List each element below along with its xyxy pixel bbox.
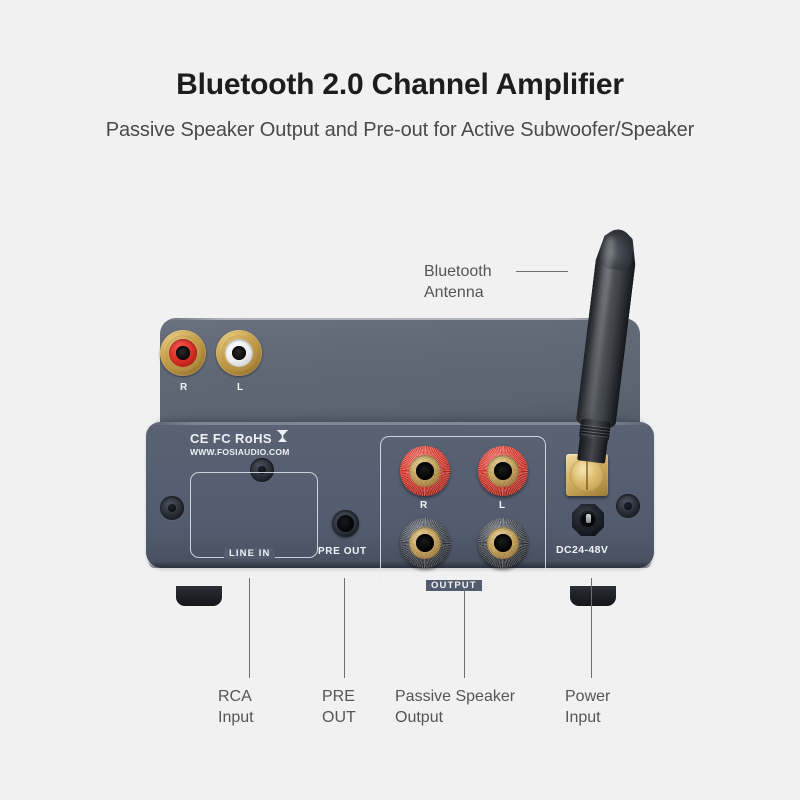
- speaker-output-left-label: L: [499, 500, 506, 511]
- rca-input-right-label: R: [180, 382, 188, 393]
- dc-power-jack[interactable]: [572, 504, 604, 536]
- callout-passive-speaker-output: Passive Speaker Output: [395, 686, 515, 729]
- callout-power-input-line1: Power: [565, 688, 610, 705]
- infographic-canvas: Bluetooth 2.0 Channel Amplifier Passive …: [0, 0, 800, 800]
- leader-line-preout: [344, 578, 345, 678]
- callout-bluetooth-antenna: Bluetooth Antenna: [424, 261, 492, 304]
- callout-pre-out-line1: PRE: [322, 688, 355, 705]
- amplifier-rear-view: CE FC RoHS WWW.FOSIAUDIO.COM LINE IN R: [146, 318, 654, 590]
- binding-post-left-positive[interactable]: [478, 446, 528, 496]
- rca-input-left-label: L: [237, 382, 244, 393]
- page-subtitle: Passive Speaker Output and Pre-out for A…: [0, 119, 800, 142]
- callout-rca-input-line2: Input: [218, 707, 254, 728]
- binding-post-right-negative[interactable]: [400, 518, 450, 568]
- leader-line-power: [591, 578, 592, 678]
- leader-line-rca: [249, 578, 250, 678]
- certification-print: CE FC RoHS WWW.FOSIAUDIO.COM: [190, 430, 290, 457]
- binding-post-left-negative[interactable]: [478, 518, 528, 568]
- leader-line-antenna: [516, 271, 568, 272]
- callout-power-input-line2: Input: [565, 707, 610, 728]
- callout-passive-speaker-output-line1: Passive Speaker: [395, 688, 515, 705]
- callout-rca-input: RCA Input: [218, 686, 254, 729]
- leader-line-speaker-output: [464, 588, 465, 678]
- speaker-output-group-label: OUTPUT: [426, 580, 482, 591]
- callout-power-input: Power Input: [565, 686, 610, 729]
- screw-hole-left: [160, 496, 184, 520]
- callout-bluetooth-antenna-line2: Antenna: [424, 282, 492, 303]
- line-in-group-outline: [190, 472, 318, 558]
- binding-post-right-positive[interactable]: [400, 446, 450, 496]
- rubber-foot-left: [176, 586, 222, 606]
- pre-out-jack[interactable]: [332, 510, 359, 537]
- screw-hole-right: [616, 494, 640, 518]
- dc-power-label: DC24-48V: [556, 544, 608, 556]
- callout-rca-input-line1: RCA: [218, 688, 252, 705]
- speaker-output-right-label: R: [420, 500, 428, 511]
- callout-pre-out-line2: OUT: [322, 707, 356, 728]
- manufacturer-website: WWW.FOSIAUDIO.COM: [190, 447, 290, 457]
- callout-pre-out: PRE OUT: [322, 686, 356, 729]
- callout-bluetooth-antenna-line1: Bluetooth: [424, 263, 492, 280]
- pre-out-label: PRE OUT: [318, 546, 367, 557]
- crossed-out-wheeled-bin-icon: [277, 430, 288, 446]
- certification-marks: CE FC RoHS: [190, 431, 272, 446]
- rca-input-right-jack[interactable]: [160, 330, 206, 376]
- rubber-foot-right: [570, 586, 616, 606]
- rca-input-left-jack[interactable]: [216, 330, 262, 376]
- callout-passive-speaker-output-line2: Output: [395, 707, 515, 728]
- line-in-group-label: LINE IN: [224, 548, 275, 559]
- page-title: Bluetooth 2.0 Channel Amplifier: [0, 68, 800, 102]
